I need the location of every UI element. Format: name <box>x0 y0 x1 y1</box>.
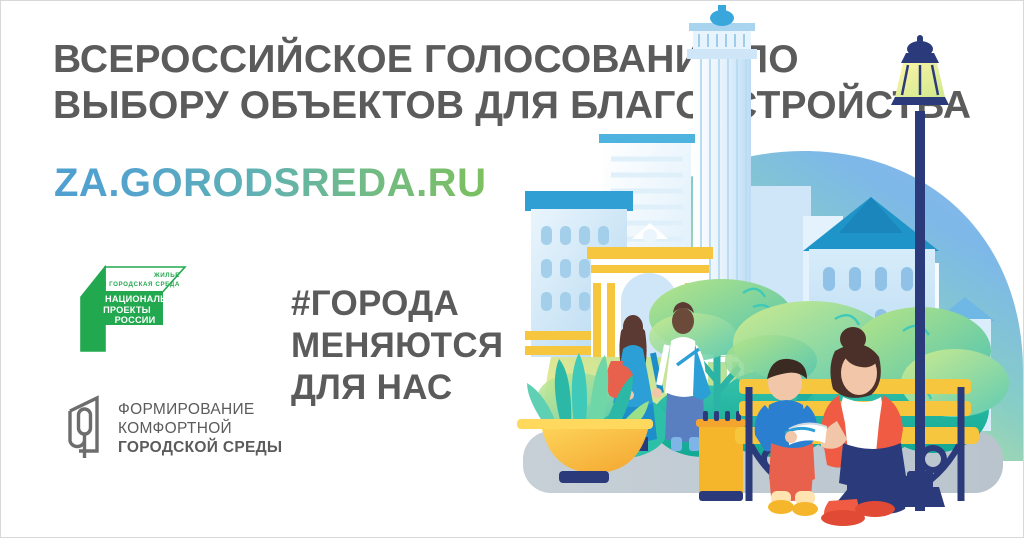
national-projects-logo: ЖИЛЬЕ И ГОРОДСКАЯ СРЕДА НАЦИОНАЛЬНЫЕ ПРО… <box>79 263 187 355</box>
svg-text:ЖИЛЬЕ: ЖИЛЬЕ <box>153 272 180 279</box>
house-loop-icon <box>61 394 105 462</box>
slogan-line-3: ДЛЯ НАС <box>291 367 503 409</box>
slogan-line-2: МЕНЯЮТСЯ <box>291 325 503 367</box>
slogan: #ГОРОДА МЕНЯЮТСЯ ДЛЯ НАС <box>291 283 503 409</box>
uel-line-3: ГОРОДСКОЙ СРЕДЫ <box>118 439 282 456</box>
trash-bin <box>696 411 746 501</box>
svg-text:ПРОЕКТЫ: ПРОЕКТЫ <box>103 305 151 315</box>
website-url[interactable]: ZA.GORODSREDA.RU <box>54 161 486 206</box>
urban-environment-logo-text: ФОРМИРОВАНИЕ КОМФОРТНОЙ ГОРОДСКОЙ СРЕДЫ <box>118 400 282 457</box>
promo-banner: ВСЕРОССИЙСКОЕ ГОЛОСОВАНИЕ ПО ВЫБОРУ ОБЪЕ… <box>0 0 1024 538</box>
uel-line-1: ФОРМИРОВАНИЕ <box>118 401 255 418</box>
urban-environment-logo: ФОРМИРОВАНИЕ КОМФОРТНОЙ ГОРОДСКОЙ СРЕДЫ <box>61 394 282 462</box>
svg-text:НАЦИОНАЛЬНЫЕ: НАЦИОНАЛЬНЫЕ <box>105 294 187 304</box>
park-illustration <box>503 1 1023 538</box>
svg-text:И ГОРОДСКАЯ СРЕДА: И ГОРОДСКАЯ СРЕДА <box>102 281 180 288</box>
slogan-line-1: #ГОРОДА <box>291 283 503 325</box>
uel-line-2: КОМФОРТНОЙ <box>118 420 232 437</box>
svg-text:РОССИИ: РОССИИ <box>115 315 156 325</box>
